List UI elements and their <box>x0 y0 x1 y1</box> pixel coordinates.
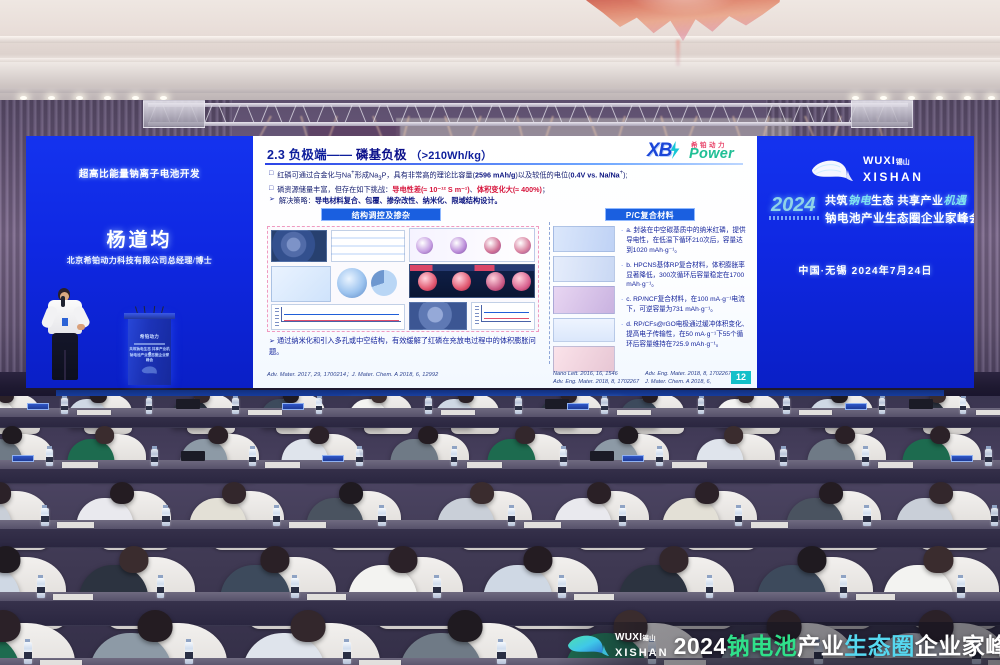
paper-sheet <box>40 660 82 665</box>
person-head <box>659 546 688 573</box>
bottle-cap <box>344 639 349 642</box>
title-divider <box>265 163 743 165</box>
truss-brace <box>736 105 744 123</box>
plot-series <box>284 320 399 321</box>
water-bottle <box>46 449 53 466</box>
truss-brace <box>554 105 562 123</box>
table-top-surface <box>0 520 1000 529</box>
truss-brace <box>484 105 492 123</box>
water-bottle <box>232 398 239 414</box>
bottle-label <box>619 516 626 521</box>
figure-cycling-plot-1 <box>271 304 405 330</box>
bottle-label <box>24 652 32 659</box>
water-bottle <box>497 642 505 664</box>
paper-sheet <box>265 462 300 468</box>
bottle-label <box>232 406 239 411</box>
plot-tick <box>275 311 279 312</box>
bottle-label <box>960 406 967 411</box>
bottle-label <box>698 406 705 411</box>
slide-title-main: 负极端—— <box>289 148 353 162</box>
bottle-label <box>863 516 870 521</box>
slide-bullet-list: □ 红磷可通过合金化与Na+形成Na3P，具有非常高的理论比容量(2596 mA… <box>269 169 747 206</box>
plot-tick <box>275 325 279 326</box>
laptop <box>176 399 200 409</box>
water-bottle <box>378 508 385 526</box>
xb-power-logo: XB 希铂动力 Power <box>647 138 751 162</box>
person-head <box>695 482 719 504</box>
truss-brace <box>400 105 408 123</box>
conference-photo-scene: 超高比能量钠离子电池开发 杨道均 北京希铂动力科技有限公司总经理/博士 2.3 … <box>0 0 1000 665</box>
bottle-label <box>41 516 48 521</box>
fish-logo-icon <box>808 156 854 182</box>
particle-figure <box>484 237 501 254</box>
plot-series <box>284 314 399 315</box>
truss-brace <box>694 105 702 123</box>
bottle-label <box>735 516 742 521</box>
bottle-cap <box>233 396 238 398</box>
bottle-label <box>157 587 165 593</box>
truss-brace <box>456 105 464 123</box>
person-head <box>309 426 329 444</box>
water-bottle <box>249 449 256 466</box>
bottle-label <box>560 457 567 462</box>
wuxi-xishan-wordmark: WUXI锡山 XISHAN <box>863 152 923 186</box>
podium-top-surface <box>124 313 175 319</box>
name-card <box>567 403 589 410</box>
bottle-cap <box>147 396 152 398</box>
ceiling-band <box>0 36 1000 43</box>
ceiling-band <box>0 58 1000 62</box>
person-head <box>448 610 483 642</box>
person-head <box>222 482 246 504</box>
truss-brace <box>610 105 618 123</box>
laptop <box>181 451 205 461</box>
person-head <box>418 426 438 444</box>
water-bottle <box>558 578 566 598</box>
truss-brace <box>414 105 422 123</box>
person-head <box>208 426 228 444</box>
speaker-role: 北京希铂动力科技有限公司总经理/博士 <box>26 255 253 266</box>
person-head <box>523 546 552 573</box>
truss-brace <box>512 105 520 123</box>
name-card <box>12 455 34 462</box>
bottle-label <box>515 406 522 411</box>
truss-brace <box>316 105 324 123</box>
truss-end-cap <box>851 100 913 128</box>
water-bottle <box>291 578 299 598</box>
plot-tick <box>475 320 479 321</box>
paper-sheet <box>57 522 94 528</box>
bullet-text: a. 封装在中空碳基质中的纳米红磷，提供导电性，在低温下循环210次后，容量达到… <box>626 226 749 256</box>
bullet-row: ➢ 解决策略：导电材料复合、包覆、掺杂改性、纳米化、限域结构设计。 <box>269 195 747 206</box>
bottle-cap <box>452 446 457 449</box>
water-bottle <box>879 398 886 414</box>
audience-table <box>0 520 1000 548</box>
truss-brace <box>652 105 660 123</box>
presenter-badge <box>62 318 68 326</box>
person-head <box>724 426 744 444</box>
figure-cycling-plot-2 <box>471 302 535 330</box>
presenter-hand <box>77 324 85 330</box>
watermark-cn-top: 锡山 <box>642 635 656 642</box>
person-head <box>340 482 364 504</box>
person-head <box>2 426 22 444</box>
truss-brace <box>302 105 310 123</box>
slide-title-spec: （>210Wh/kg） <box>410 150 492 162</box>
water-bottle <box>706 578 714 598</box>
truss-brace <box>638 105 646 123</box>
person-head <box>388 546 417 573</box>
paper-sheet <box>359 660 401 665</box>
truss-brace <box>778 105 786 123</box>
plot-tick <box>275 315 279 316</box>
mechanism-header-bar <box>410 265 534 271</box>
paper-sheet <box>574 594 613 600</box>
presentation-slide: 2.3 负极端—— 磷基负极 （>210Wh/kg） XB 希铂动力 Power… <box>253 136 757 388</box>
water-bottle <box>425 398 432 414</box>
presenter-leg-gap <box>64 350 66 380</box>
mechanism-particle <box>452 272 471 291</box>
person-head <box>515 426 535 444</box>
year-underline <box>769 216 821 220</box>
figure-layer-stack-2 <box>553 256 615 282</box>
presentation-topic: 超高比能量钠离子电池开发 <box>26 166 253 180</box>
figure-composite-sem <box>553 286 615 314</box>
water-bottle <box>601 398 608 414</box>
water-bottle <box>783 398 790 414</box>
watermark-title: 2024钠电池产业生态圈企业家峰会 <box>674 627 1000 661</box>
bottle-cap <box>561 446 566 449</box>
paper-sheet <box>289 522 326 528</box>
bottle-cap <box>250 446 255 449</box>
pc-composite-bullet-list: · a. 封装在中空碳基质中的纳米红磷，提供导电性，在低温下循环210次后，容量… <box>621 226 749 355</box>
truss-brace <box>680 105 688 123</box>
podium-fish-icon <box>140 363 160 377</box>
bullet-text: c. RP/NCF复合材料，在100 mA·g⁻¹电流下，可逆容量为731 mA… <box>626 295 749 315</box>
bottle-label <box>985 457 992 462</box>
plot-tick <box>275 308 279 309</box>
podium-slogan-2: 钠电池产业生态圈企业家峰会 <box>128 353 171 363</box>
bottle-label <box>316 406 323 411</box>
bottle-cap <box>47 446 52 449</box>
bottle-cap <box>736 505 741 508</box>
bottle-label <box>356 457 363 462</box>
figure-hollow-sphere <box>271 266 331 302</box>
plot-tick <box>275 318 279 319</box>
reference-left: Adv. Mater. 2017, 29, 1700214；J. Mater. … <box>267 370 557 378</box>
water-bottle <box>840 578 848 598</box>
watermark-year: 2024 <box>674 633 727 659</box>
bottle-label <box>862 457 869 462</box>
bullet-marker: · <box>621 226 623 256</box>
bottle-label <box>162 516 169 521</box>
bullet-marker: □ <box>269 169 273 180</box>
name-card <box>622 455 644 462</box>
figure-particle-series <box>409 228 535 262</box>
truss-brace <box>806 105 814 123</box>
water-bottle <box>735 508 742 526</box>
mechanism-particle <box>418 272 437 291</box>
truss-brace <box>708 105 716 123</box>
paper-sheet <box>856 594 895 600</box>
event-location-date: 中国·无锡 2024年7月24日 <box>757 262 974 277</box>
bottle-cap <box>864 505 869 508</box>
bullet-marker: · <box>621 320 623 350</box>
water-bottle <box>273 508 280 526</box>
wuxi-xishan-logo: WUXI锡山 XISHAN <box>757 152 974 186</box>
slide-note-left: ➢ 通过纳米化和引入多孔或中空结构，有效缓解了红磷在充放电过程中的体积膨胀问题。 <box>269 336 541 358</box>
bottle-label <box>656 457 663 462</box>
laptop <box>590 451 614 461</box>
name-card <box>27 403 49 410</box>
watermark-en-bottom: XISHAN <box>615 647 669 659</box>
truss-brace <box>568 105 576 123</box>
person-head <box>261 546 290 573</box>
person-head <box>120 546 149 573</box>
water-bottle <box>61 398 68 414</box>
truss-brace <box>260 105 268 123</box>
plot-tick <box>475 323 479 324</box>
podium: 希铂动力 共筑钠电生态 共享产业机遇 钠电池产业生态圈企业家峰会 <box>128 317 171 385</box>
truss-brace <box>344 105 352 123</box>
bottle-label <box>185 652 193 659</box>
bullet-text: 磷资源储量丰富，但存在如下挑战：导电性差(≈ 10⁻¹² S m⁻¹)、体积变化… <box>277 184 549 195</box>
water-bottle <box>619 508 626 526</box>
truss-brace <box>666 105 674 123</box>
paper-sheet <box>62 462 97 468</box>
truss-brace <box>232 105 240 123</box>
person-head <box>95 426 115 444</box>
water-bottle <box>960 398 967 414</box>
truss-brace <box>498 105 506 123</box>
truss-brace <box>834 105 842 123</box>
paper-sheet <box>77 410 110 415</box>
name-card <box>322 455 344 462</box>
bottle-cap <box>620 505 625 508</box>
figure-electrode-cross-section <box>553 346 615 372</box>
figure-group-right <box>553 226 615 362</box>
water-bottle <box>24 642 32 664</box>
bottle-cap <box>42 505 47 508</box>
table-top-surface <box>0 592 1000 601</box>
bullet-marker: · <box>621 261 623 291</box>
figure-layer-stack-1 <box>553 226 615 252</box>
bullet-row: · d. RP/CFs@rGO电极通过缓冲体积变化、提高电子传输性，在50 mA… <box>621 320 749 350</box>
bottle-cap <box>880 396 885 398</box>
truss-bar <box>148 122 908 126</box>
reference-right: Nano Lett. 2016, 16, 1546 Adv. Eng. Mate… <box>553 370 749 387</box>
person-head <box>110 482 134 504</box>
watermark-title-a: 钠电池 <box>727 633 798 659</box>
bottle-cap <box>992 505 997 508</box>
bottle-cap <box>784 396 789 398</box>
water-bottle <box>991 508 998 526</box>
bottle-cap <box>317 396 322 398</box>
bullet-row: □ 红磷可通过合金化与Na+形成Na3P，具有非常高的理论比容量(2596 mA… <box>269 169 747 184</box>
bottle-cap <box>152 446 157 449</box>
bullet-text: 解决策略：导电材料复合、包覆、掺杂改性、纳米化、限域结构设计。 <box>279 195 502 206</box>
truss-brace <box>442 105 450 123</box>
bottle-label <box>783 406 790 411</box>
water-bottle <box>162 508 169 526</box>
water-bottle <box>356 449 363 466</box>
person-head <box>137 610 172 642</box>
figure-sem-cluster <box>271 230 327 262</box>
person-head <box>835 426 855 444</box>
water-bottle <box>185 642 193 664</box>
paper-sheet <box>976 410 1000 415</box>
bottle-cap <box>186 639 191 642</box>
water-bottle <box>862 449 869 466</box>
slide-title-emph: 磷基负极 <box>356 148 407 162</box>
water-bottle <box>957 578 965 598</box>
truss-brace <box>820 105 828 123</box>
figure-sem-grains <box>409 302 467 330</box>
paper-sheet <box>878 462 913 468</box>
bottle-label <box>151 457 158 462</box>
bottle-cap <box>292 575 297 578</box>
bottle-cap <box>863 446 868 449</box>
bottle-label <box>879 406 886 411</box>
laptop <box>909 399 933 409</box>
bottle-label <box>378 516 385 521</box>
slide-page-number: 12 <box>731 371 751 384</box>
paper-sheet <box>248 410 281 415</box>
particle-figure <box>514 237 531 254</box>
water-bottle <box>433 578 441 598</box>
plot-tick <box>475 313 479 314</box>
truss-brace <box>428 105 436 123</box>
bottle-label <box>706 587 714 593</box>
plot-series <box>484 318 529 319</box>
speaker-name: 杨道均 <box>26 225 253 252</box>
particle-figure <box>416 237 433 254</box>
watermark-title-c: 生态圈 <box>844 633 915 659</box>
paper-sheet <box>467 462 502 468</box>
slide-vertical-divider <box>549 222 550 364</box>
chandelier-stem <box>676 40 680 66</box>
truss-brace <box>246 105 254 123</box>
person-head <box>291 610 326 642</box>
water-bottle <box>560 449 567 466</box>
truss-brace <box>204 105 212 123</box>
bottle-label <box>780 457 787 462</box>
xb-brand-word: Power <box>689 146 734 162</box>
bottle-cap <box>559 575 564 578</box>
figure-process-diagram <box>553 318 615 342</box>
paper-sheet <box>524 522 561 528</box>
watermark-title-b: 产业 <box>797 633 844 659</box>
bottle-label <box>249 457 256 462</box>
bottle-cap <box>961 396 966 398</box>
name-card <box>282 403 304 410</box>
truss-end-cap <box>143 100 205 128</box>
name-card <box>845 403 867 410</box>
note-marker: ➢ <box>269 336 275 345</box>
bottle-label <box>840 587 848 593</box>
truss-brace <box>582 105 590 123</box>
bottle-label <box>46 457 53 462</box>
section-label-pc-composite: P/C复合材料 <box>605 208 695 221</box>
watermark-fish-icon <box>564 631 610 657</box>
sphere-figure <box>337 268 367 298</box>
bottle-cap <box>986 446 991 449</box>
water-bottle <box>698 398 705 414</box>
paper-sheet <box>441 410 474 415</box>
plot-axes <box>481 305 531 322</box>
truss-brace <box>386 105 394 123</box>
bullet-marker: ➢ <box>269 195 275 206</box>
watermark-title-d: 企业家峰会 <box>915 633 1000 659</box>
bottle-label <box>433 587 441 593</box>
bullet-row: · c. RP/NCF复合材料，在100 mA·g⁻¹电流下，可逆容量为731 … <box>621 295 749 315</box>
bullet-marker: □ <box>269 184 273 195</box>
logo-en-top: WUXI <box>863 155 896 167</box>
truss-brace <box>358 105 366 123</box>
truss-brace <box>750 105 758 123</box>
plot-tick <box>475 306 479 307</box>
truss-brace <box>372 105 380 123</box>
person-head <box>924 546 953 573</box>
bottle-cap <box>62 396 67 398</box>
bottle-cap <box>274 505 279 508</box>
bottle-cap <box>781 446 786 449</box>
lighting-truss <box>148 100 908 126</box>
water-bottle <box>863 508 870 526</box>
bottle-label <box>343 652 351 659</box>
person-head <box>618 426 638 444</box>
bullet-row: · a. 封装在中空碳基质中的纳米红磷，提供导电性，在低温下循环210次后，容量… <box>621 226 749 256</box>
bullet-text: b. HPCNS基体RP复合材料，体积膨胀率显著降低，300次循环后容量稳定在1… <box>626 261 749 291</box>
bottle-label <box>508 516 515 521</box>
plot-series <box>484 312 529 313</box>
truss-brace <box>526 105 534 123</box>
person-head <box>930 482 954 504</box>
bottle-cap <box>357 446 362 449</box>
paper-sheet <box>307 594 346 600</box>
bottle-cap <box>516 396 521 398</box>
watermark-wordmark: WUXI锡山 XISHAN <box>615 628 669 660</box>
event-slogan-line2: 钠电池产业生态圈企业家峰会 <box>825 210 974 226</box>
water-bottle <box>656 449 663 466</box>
truss-brace <box>274 105 282 123</box>
bottle-cap <box>25 639 30 642</box>
truss-brace <box>792 105 800 123</box>
bottle-cap <box>158 575 163 578</box>
truss-brace <box>624 105 632 123</box>
water-bottle <box>316 398 323 414</box>
truss-brace <box>596 105 604 123</box>
particle-figure <box>450 237 467 254</box>
logo-cn-top: 锡山 <box>896 159 910 166</box>
mechanism-particle <box>486 272 505 291</box>
truss-brace <box>540 105 548 123</box>
bottle-cap <box>163 505 168 508</box>
figure-schematic-bars <box>331 230 405 262</box>
mechanism-particle <box>512 272 531 291</box>
bottle-cap <box>38 575 43 578</box>
bullet-marker: · <box>621 295 623 315</box>
bullet-text: d. RP/CFs@rGO电极通过缓冲体积变化、提高电子传输性，在50 mA·g… <box>626 320 749 350</box>
truss-brace <box>288 105 296 123</box>
watermark-en-top: WUXI <box>615 632 642 643</box>
water-bottle <box>780 449 787 466</box>
water-bottle <box>451 449 458 466</box>
bottle-cap <box>841 575 846 578</box>
microphone-icon <box>61 296 65 307</box>
bottle-label <box>425 406 432 411</box>
person-head <box>930 426 950 444</box>
